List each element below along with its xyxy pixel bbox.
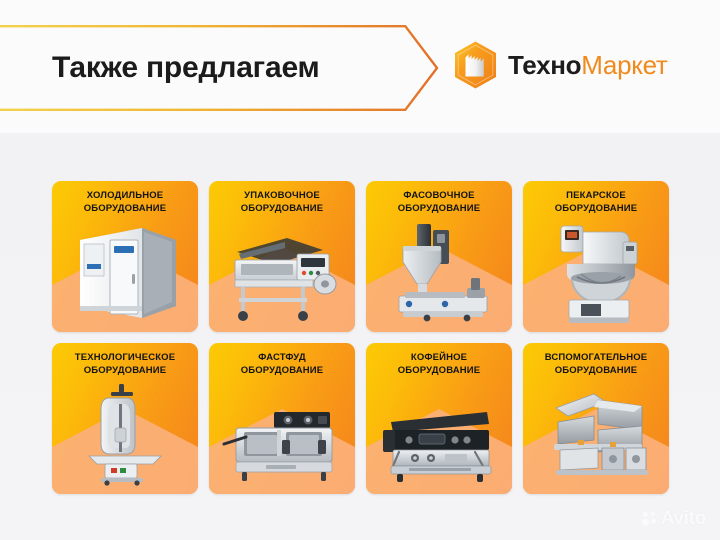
brand-name-part1: Техно	[508, 50, 581, 80]
category-card[interactable]: ТЕХНОЛОГИЧЕСКОЕ ОБОРУДОВАНИЕ	[52, 343, 198, 494]
brand-logo: ТехноМаркет	[452, 40, 668, 90]
card-title: УПАКОВОЧНОЕ ОБОРУДОВАНИЕ	[209, 190, 355, 215]
spiral-dough-mixer-photo	[523, 219, 669, 330]
brand-name-part2: Маркет	[581, 50, 667, 80]
card-title: ТЕХНОЛОГИЧЕСКОЕ ОБОРУДОВАНИЕ	[52, 352, 198, 377]
category-card[interactable]: ХОЛОДИЛЬНОЕ ОБОРУДОВАНИЕ	[52, 181, 198, 332]
category-card[interactable]: ВСПОМОГАТЕЛЬНОЕ ОБОРУДОВАНИЕ	[523, 343, 669, 494]
band-saw-photo	[52, 381, 198, 492]
avito-logo-icon	[641, 510, 658, 527]
walk-in-freezer-photo	[52, 219, 198, 330]
hexagon-building-icon	[452, 40, 499, 90]
card-title: ВСПОМОГАТЕЛЬНОЕ ОБОРУДОВАНИЕ	[523, 352, 669, 377]
category-card[interactable]: ПЕКАРСКОЕ ОБОРУДОВАНИЕ	[523, 181, 669, 332]
espresso-machine-photo	[366, 381, 512, 492]
category-card[interactable]: ФАСТФУД ОБОРУДОВАНИЕ	[209, 343, 355, 494]
page-title: Также предлагаем	[52, 25, 422, 111]
card-title: КОФЕЙНОЕ ОБОРУДОВАНИЕ	[366, 352, 512, 377]
card-title: ХОЛОДИЛЬНОЕ ОБОРУДОВАНИЕ	[52, 190, 198, 215]
brand-wordmark: ТехноМаркет	[508, 52, 668, 78]
avito-watermark: Avito	[641, 509, 706, 528]
card-title: ФАСТФУД ОБОРУДОВАНИЕ	[209, 352, 355, 377]
card-title: ФАСОВОЧНОЕ ОБОРУДОВАНИЕ	[366, 190, 512, 215]
category-grid: ХОЛОДИЛЬНОЕ ОБОРУДОВАНИЕ УПАКОВОЧНОЕ ОБО…	[52, 181, 668, 494]
shrink-wrap-machine-photo	[209, 219, 355, 330]
gastronorm-pans-photo	[523, 381, 669, 492]
category-card[interactable]: КОФЕЙНОЕ ОБОРУДОВАНИЕ	[366, 343, 512, 494]
category-card[interactable]: УПАКОВОЧНОЕ ОБОРУДОВАНИЕ	[209, 181, 355, 332]
filling-machine-photo	[366, 219, 512, 330]
avito-watermark-text: Avito	[661, 509, 706, 528]
double-deep-fryer-photo	[209, 381, 355, 492]
card-title: ПЕКАРСКОЕ ОБОРУДОВАНИЕ	[523, 190, 669, 215]
category-card[interactable]: ФАСОВОЧНОЕ ОБОРУДОВАНИЕ	[366, 181, 512, 332]
